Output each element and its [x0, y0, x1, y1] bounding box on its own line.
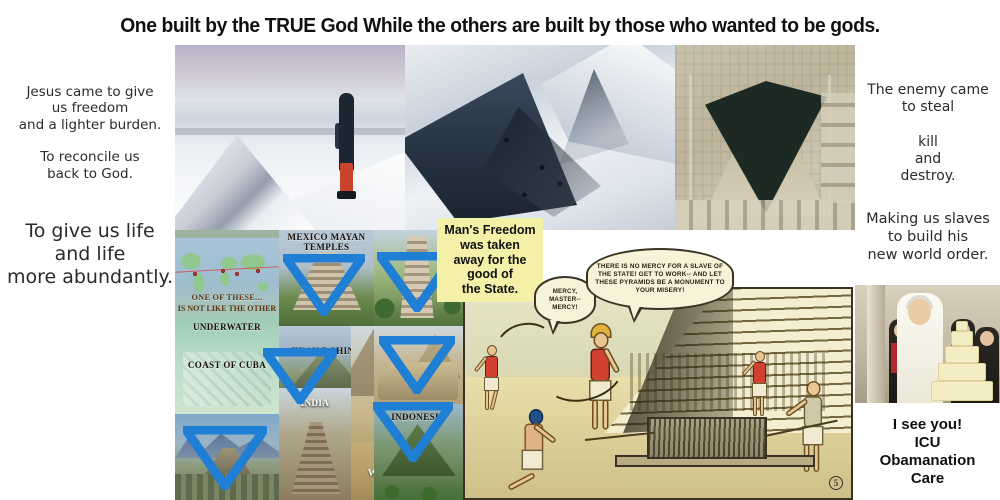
figure-head: [807, 381, 821, 396]
stepped-pyramid: [293, 252, 361, 310]
stone-block: [647, 417, 767, 459]
collage-cell-indonesia: Indonesia: [374, 404, 463, 500]
figure-head: [755, 351, 765, 362]
left-line: To reconcile us: [6, 149, 174, 165]
page-title: One built by the TRUE God While the othe…: [30, 14, 970, 38]
climber-figure: [335, 93, 357, 201]
right-text-block-3: Making us slaves to build his new world …: [856, 211, 1000, 264]
left-text-block-1: Jesus came to give us freedom and a ligh…: [6, 84, 174, 133]
climber-legs: [340, 163, 353, 193]
left-line: us freedom: [6, 100, 174, 116]
tiered-pyramid-cake: [931, 321, 993, 401]
label-one-of-these: One of these...: [175, 293, 279, 302]
label-coast-of-cuba: Coast of Cuba: [175, 360, 279, 370]
cake-tier: [945, 346, 979, 363]
icu-caption-box: I see you! ICU Obamanation Care: [855, 403, 1000, 500]
caption-line: Man's Freedom: [444, 223, 535, 238]
buildings-row-right: [821, 93, 855, 203]
photo-dark-pyramid-in-snow: [405, 45, 675, 230]
distant-pyramid-peak: [175, 135, 315, 230]
figure-leg: [753, 396, 757, 416]
meme-canvas: One built by the TRUE God While the othe…: [0, 0, 1000, 500]
right-line: The enemy came: [856, 82, 1000, 99]
photo-aerial-great-pyramid: [675, 45, 855, 230]
climber-boots: [337, 191, 356, 199]
left-line: Jesus came to give: [6, 84, 174, 100]
collage-cell-world-map: One of these... Is not like the Other: [175, 238, 279, 316]
figure-kilt: [484, 377, 499, 391]
gunung-padang-mound: [382, 424, 456, 476]
map-marker: [235, 272, 239, 276]
right-line: kill: [856, 134, 1000, 151]
right-line: and: [856, 151, 1000, 168]
tropical-foliage: [374, 474, 463, 500]
collage-cell-india: India: [279, 388, 351, 500]
balloon-tail: [628, 307, 643, 323]
photo-antarctic-snow-ridge: [175, 45, 405, 230]
caption-line: was taken: [444, 238, 535, 253]
right-line: Making us slaves: [856, 211, 1000, 229]
caption-line: ICU: [880, 434, 976, 452]
climber-body: [339, 93, 354, 171]
cake-tier: [931, 381, 993, 401]
left-text-block-2: To reconcile us back to God.: [6, 149, 174, 182]
buildings-row-bottom: [675, 200, 855, 230]
left-line: back to God.: [6, 166, 174, 182]
figure-leg: [485, 390, 489, 410]
right-line: destroy.: [856, 168, 1000, 185]
figure-torso: [753, 362, 766, 384]
figure-kilt: [522, 450, 544, 470]
right-text-column: The enemy came to steal kill and destroy…: [856, 82, 1000, 264]
photo-pope-with-cake: [855, 285, 1000, 403]
collage-cell-teotihuacan: [175, 414, 279, 500]
collage-cell-giza-sphinx: [374, 326, 463, 404]
pope-face: [908, 299, 931, 325]
comic-panel-pyramid-slaves: 5: [463, 287, 853, 500]
ruins-ground: [175, 474, 279, 500]
panel-number: 5: [829, 476, 843, 490]
cake-tier: [951, 331, 973, 346]
left-line: and a lighter burden.: [6, 117, 174, 133]
left-line: To give us life: [6, 220, 174, 243]
caption-line: Obamanation: [880, 452, 976, 470]
label-indonesia: Indonesia: [374, 412, 463, 422]
label-not-like-other: Is not like the Other: [175, 304, 279, 313]
pyramid-collage: One of these... Is not like the Other Un…: [175, 230, 463, 500]
left-text-column: Jesus came to give us freedom and a ligh…: [6, 84, 174, 289]
caption-line: the State.: [444, 282, 535, 297]
right-text-block-1: The enemy came to steal: [856, 82, 1000, 116]
caption-line: I see you!: [880, 416, 976, 434]
horizon-band: [175, 128, 405, 135]
marble-column: [867, 285, 885, 403]
balloon-text: THERE IS NO MERCY FOR A SLAVE OF THE STA…: [594, 263, 726, 295]
stone-hatching: [649, 419, 765, 457]
label-mexico-mayan-temples: Mexico Mayan Temples: [279, 232, 374, 252]
right-line: to build his: [856, 229, 1000, 247]
figure-kilt: [802, 426, 823, 446]
cake-tier: [938, 363, 986, 381]
figure-leg: [760, 396, 764, 416]
label-india: India: [279, 398, 351, 408]
right-line: new world order.: [856, 247, 1000, 265]
figure-leg: [603, 400, 609, 430]
caption-line: good of: [444, 267, 535, 282]
sphinx: [378, 362, 458, 400]
figure-kilt: [752, 383, 767, 397]
icu-caption-text: I see you! ICU Obamanation Care: [880, 416, 976, 488]
left-line: and life: [6, 243, 174, 266]
left-line: more abundantly.: [6, 266, 174, 289]
label-underwater: Underwater: [175, 322, 279, 332]
cake-tier: [956, 321, 968, 331]
collage-cell-underwater-cuba: Underwater Coast of Cuba: [175, 316, 279, 414]
right-line: to steal: [856, 99, 1000, 116]
right-text-block-2: kill and destroy.: [856, 134, 1000, 185]
balloon-text: MERCY, MASTER-- MERCY!: [542, 288, 588, 311]
yellow-caption-box: Man's Freedom was taken away for the goo…: [437, 218, 543, 302]
balloon-tail: [548, 321, 560, 335]
india-temple: [287, 422, 345, 494]
left-text-block-3: To give us life and life more abundantly…: [6, 220, 174, 288]
speech-balloon-overseer: THERE IS NO MERCY FOR A SLAVE OF THE STA…: [586, 248, 734, 310]
worker-crowd: [625, 353, 825, 411]
collage-cell-chichen-itza: Mexico Mayan Temples: [279, 230, 374, 326]
yellow-caption-text: Man's Freedom was taken away for the goo…: [444, 223, 535, 296]
caption-line: away for the: [444, 253, 535, 268]
map-marker: [221, 269, 225, 273]
caption-line: Care: [880, 470, 976, 488]
figure-leg: [592, 400, 598, 430]
